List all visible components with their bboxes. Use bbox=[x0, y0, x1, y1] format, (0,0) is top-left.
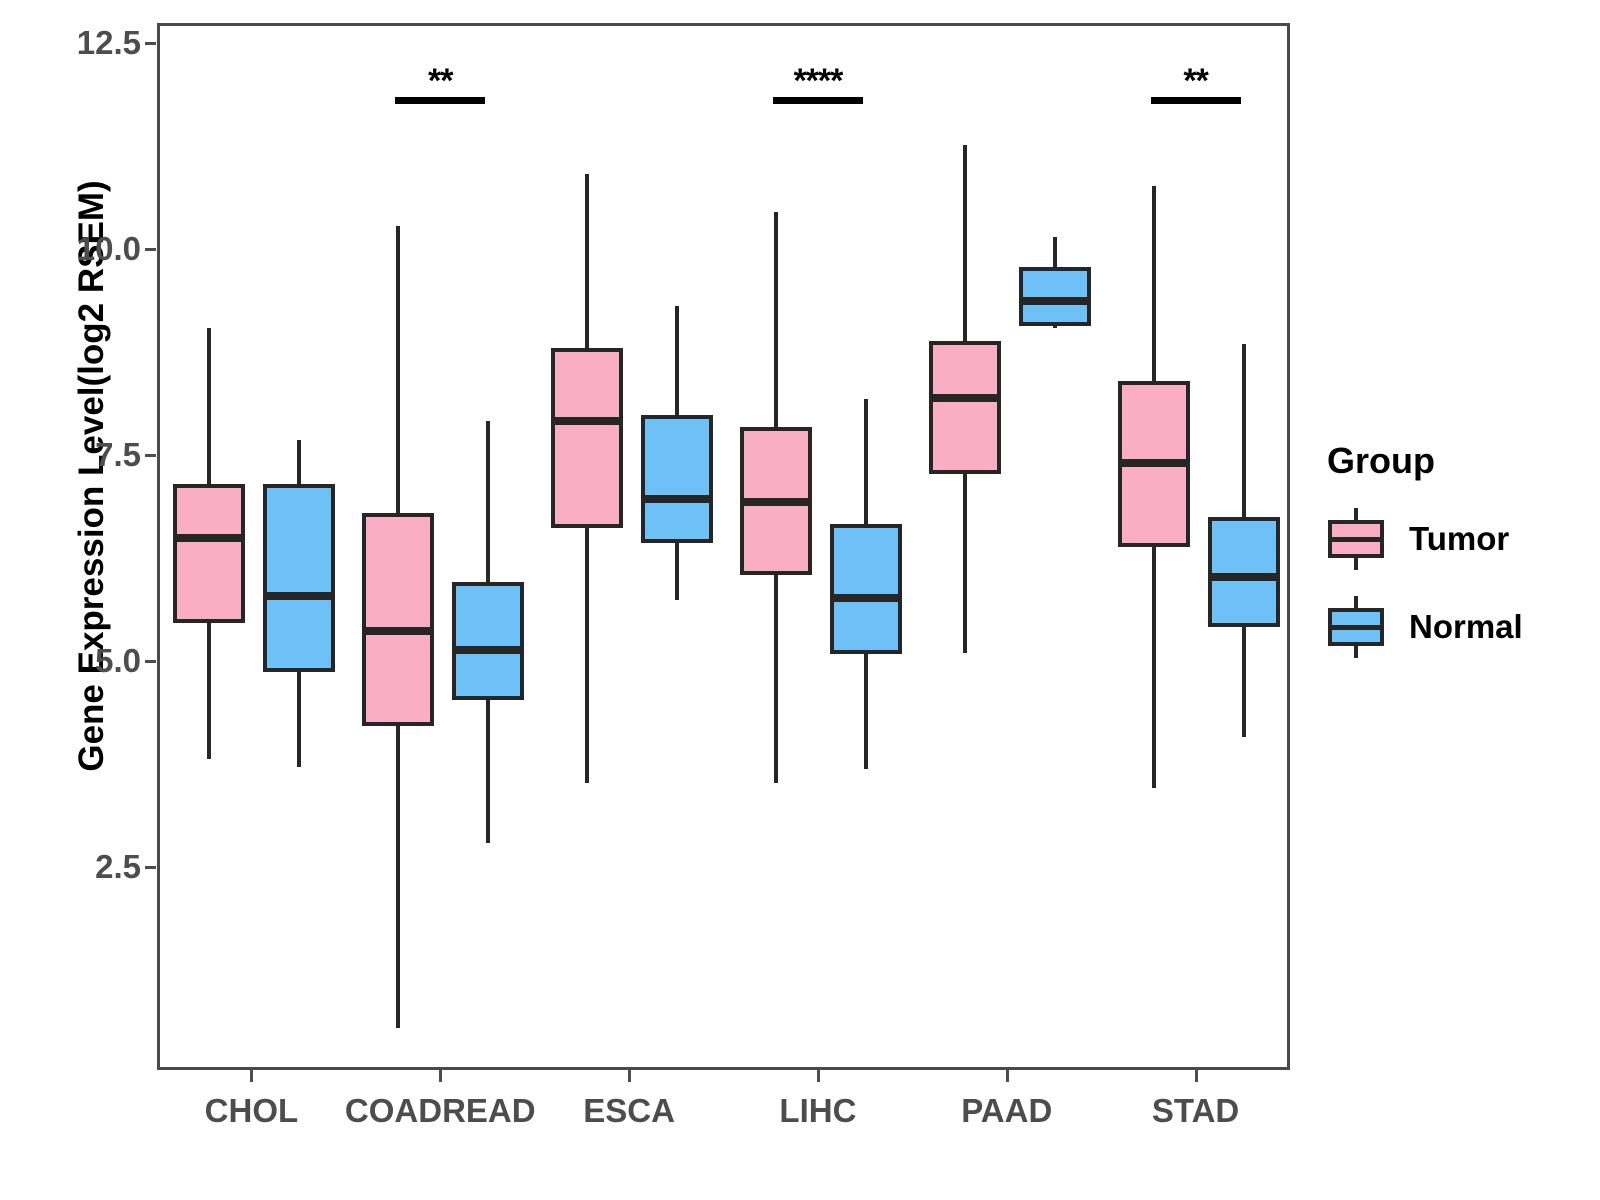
legend-label-normal: Normal bbox=[1409, 608, 1523, 646]
x-tick-label-chol: CHOL bbox=[205, 1092, 299, 1130]
x-tick-label-paad: PAAD bbox=[961, 1092, 1052, 1130]
median-line bbox=[1208, 573, 1280, 581]
y-tick-label: 2.5 bbox=[21, 848, 141, 886]
plot-area bbox=[160, 26, 1287, 1067]
x-tick-mark bbox=[628, 1070, 631, 1082]
significance-stars: ** bbox=[1183, 64, 1207, 98]
x-tick-mark bbox=[250, 1070, 253, 1082]
x-tick-mark bbox=[1006, 1070, 1009, 1082]
y-tick-mark bbox=[145, 454, 156, 457]
x-tick-label-esca: ESCA bbox=[583, 1092, 675, 1130]
legend-key-tumor-icon bbox=[1325, 508, 1387, 570]
y-tick-label: 7.5 bbox=[21, 436, 141, 474]
x-tick-mark bbox=[439, 1070, 442, 1082]
y-tick-label: 12.5 bbox=[21, 24, 141, 62]
legend: Group Tumor Normal bbox=[1325, 440, 1585, 684]
legend-item-tumor[interactable]: Tumor bbox=[1325, 508, 1585, 570]
x-tick-mark bbox=[817, 1070, 820, 1082]
legend-key-normal-icon bbox=[1325, 596, 1387, 658]
plot-panel bbox=[157, 23, 1290, 1070]
legend-title: Group bbox=[1327, 440, 1585, 482]
boxplot-box[interactable] bbox=[160, 26, 1287, 1067]
legend-label-tumor: Tumor bbox=[1409, 520, 1509, 558]
legend-item-normal[interactable]: Normal bbox=[1325, 596, 1585, 658]
y-tick-mark bbox=[145, 866, 156, 869]
significance-stars: **** bbox=[793, 64, 842, 98]
x-tick-label-coadread: COADREAD bbox=[345, 1092, 536, 1130]
x-tick-label-lihc: LIHC bbox=[779, 1092, 856, 1130]
boxplot-figure: Gene Expression Level(log2 RSEM) 2.55.07… bbox=[0, 0, 1600, 1200]
y-tick-mark bbox=[145, 42, 156, 45]
y-tick-label: 10.0 bbox=[21, 230, 141, 268]
x-tick-mark bbox=[1195, 1070, 1198, 1082]
x-tick-label-stad: STAD bbox=[1152, 1092, 1239, 1130]
y-tick-mark bbox=[145, 660, 156, 663]
significance-stars: ** bbox=[428, 64, 452, 98]
y-tick-mark bbox=[145, 248, 156, 251]
box-rect bbox=[1208, 517, 1280, 627]
y-tick-label: 5.0 bbox=[21, 642, 141, 680]
